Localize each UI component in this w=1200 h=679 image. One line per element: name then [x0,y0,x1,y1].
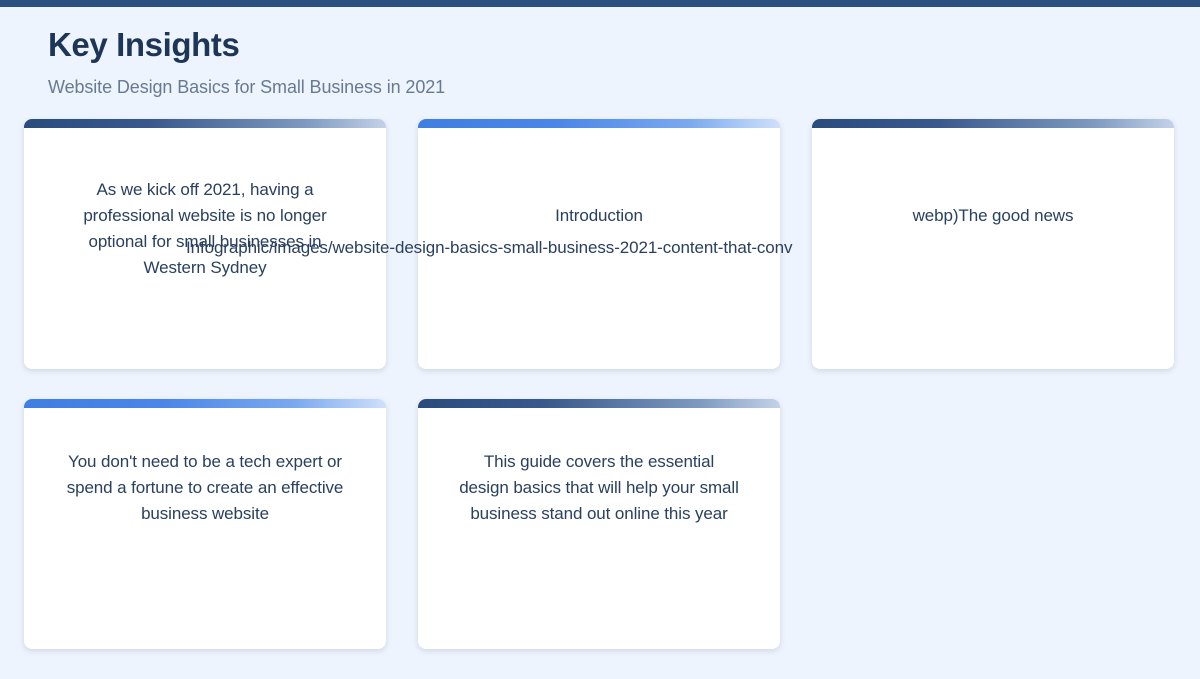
insight-card-1[interactable]: As we kick off 2021, having a profession… [24,119,386,369]
insight-card-5[interactable]: This guide covers the essential design b… [418,399,780,649]
card-accent-bar [24,399,386,408]
page-title: Key Insights [48,25,1048,65]
top-accent-bar [0,0,1200,7]
card-row-1: As we kick off 2021, having a profession… [24,119,1176,369]
insight-card-text: webp)The good news [853,203,1133,229]
insight-card-text: As we kick off 2021, having a profession… [65,177,345,281]
insight-card-4[interactable]: You don't need to be a tech expert or sp… [24,399,386,649]
card-row-2: You don't need to be a tech expert or sp… [24,399,1176,649]
insight-card-2[interactable]: Introduction [418,119,780,369]
insight-card-3[interactable]: webp)The good news [812,119,1174,369]
card-accent-bar [812,119,1174,128]
insight-card-grid: As we kick off 2021, having a profession… [24,119,1176,679]
insight-card-text: You don't need to be a tech expert or sp… [65,449,345,527]
page-subtitle: Website Design Basics for Small Business… [48,75,1048,99]
card-accent-bar [24,119,386,128]
insights-page: Key Insights Website Design Basics for S… [0,7,1200,675]
insight-card-text: This guide covers the essential design b… [459,449,739,527]
card-accent-bar [418,399,780,408]
insight-card-text: Introduction [459,203,739,229]
page-header: Key Insights Website Design Basics for S… [48,25,1048,99]
card-accent-bar [418,119,780,128]
